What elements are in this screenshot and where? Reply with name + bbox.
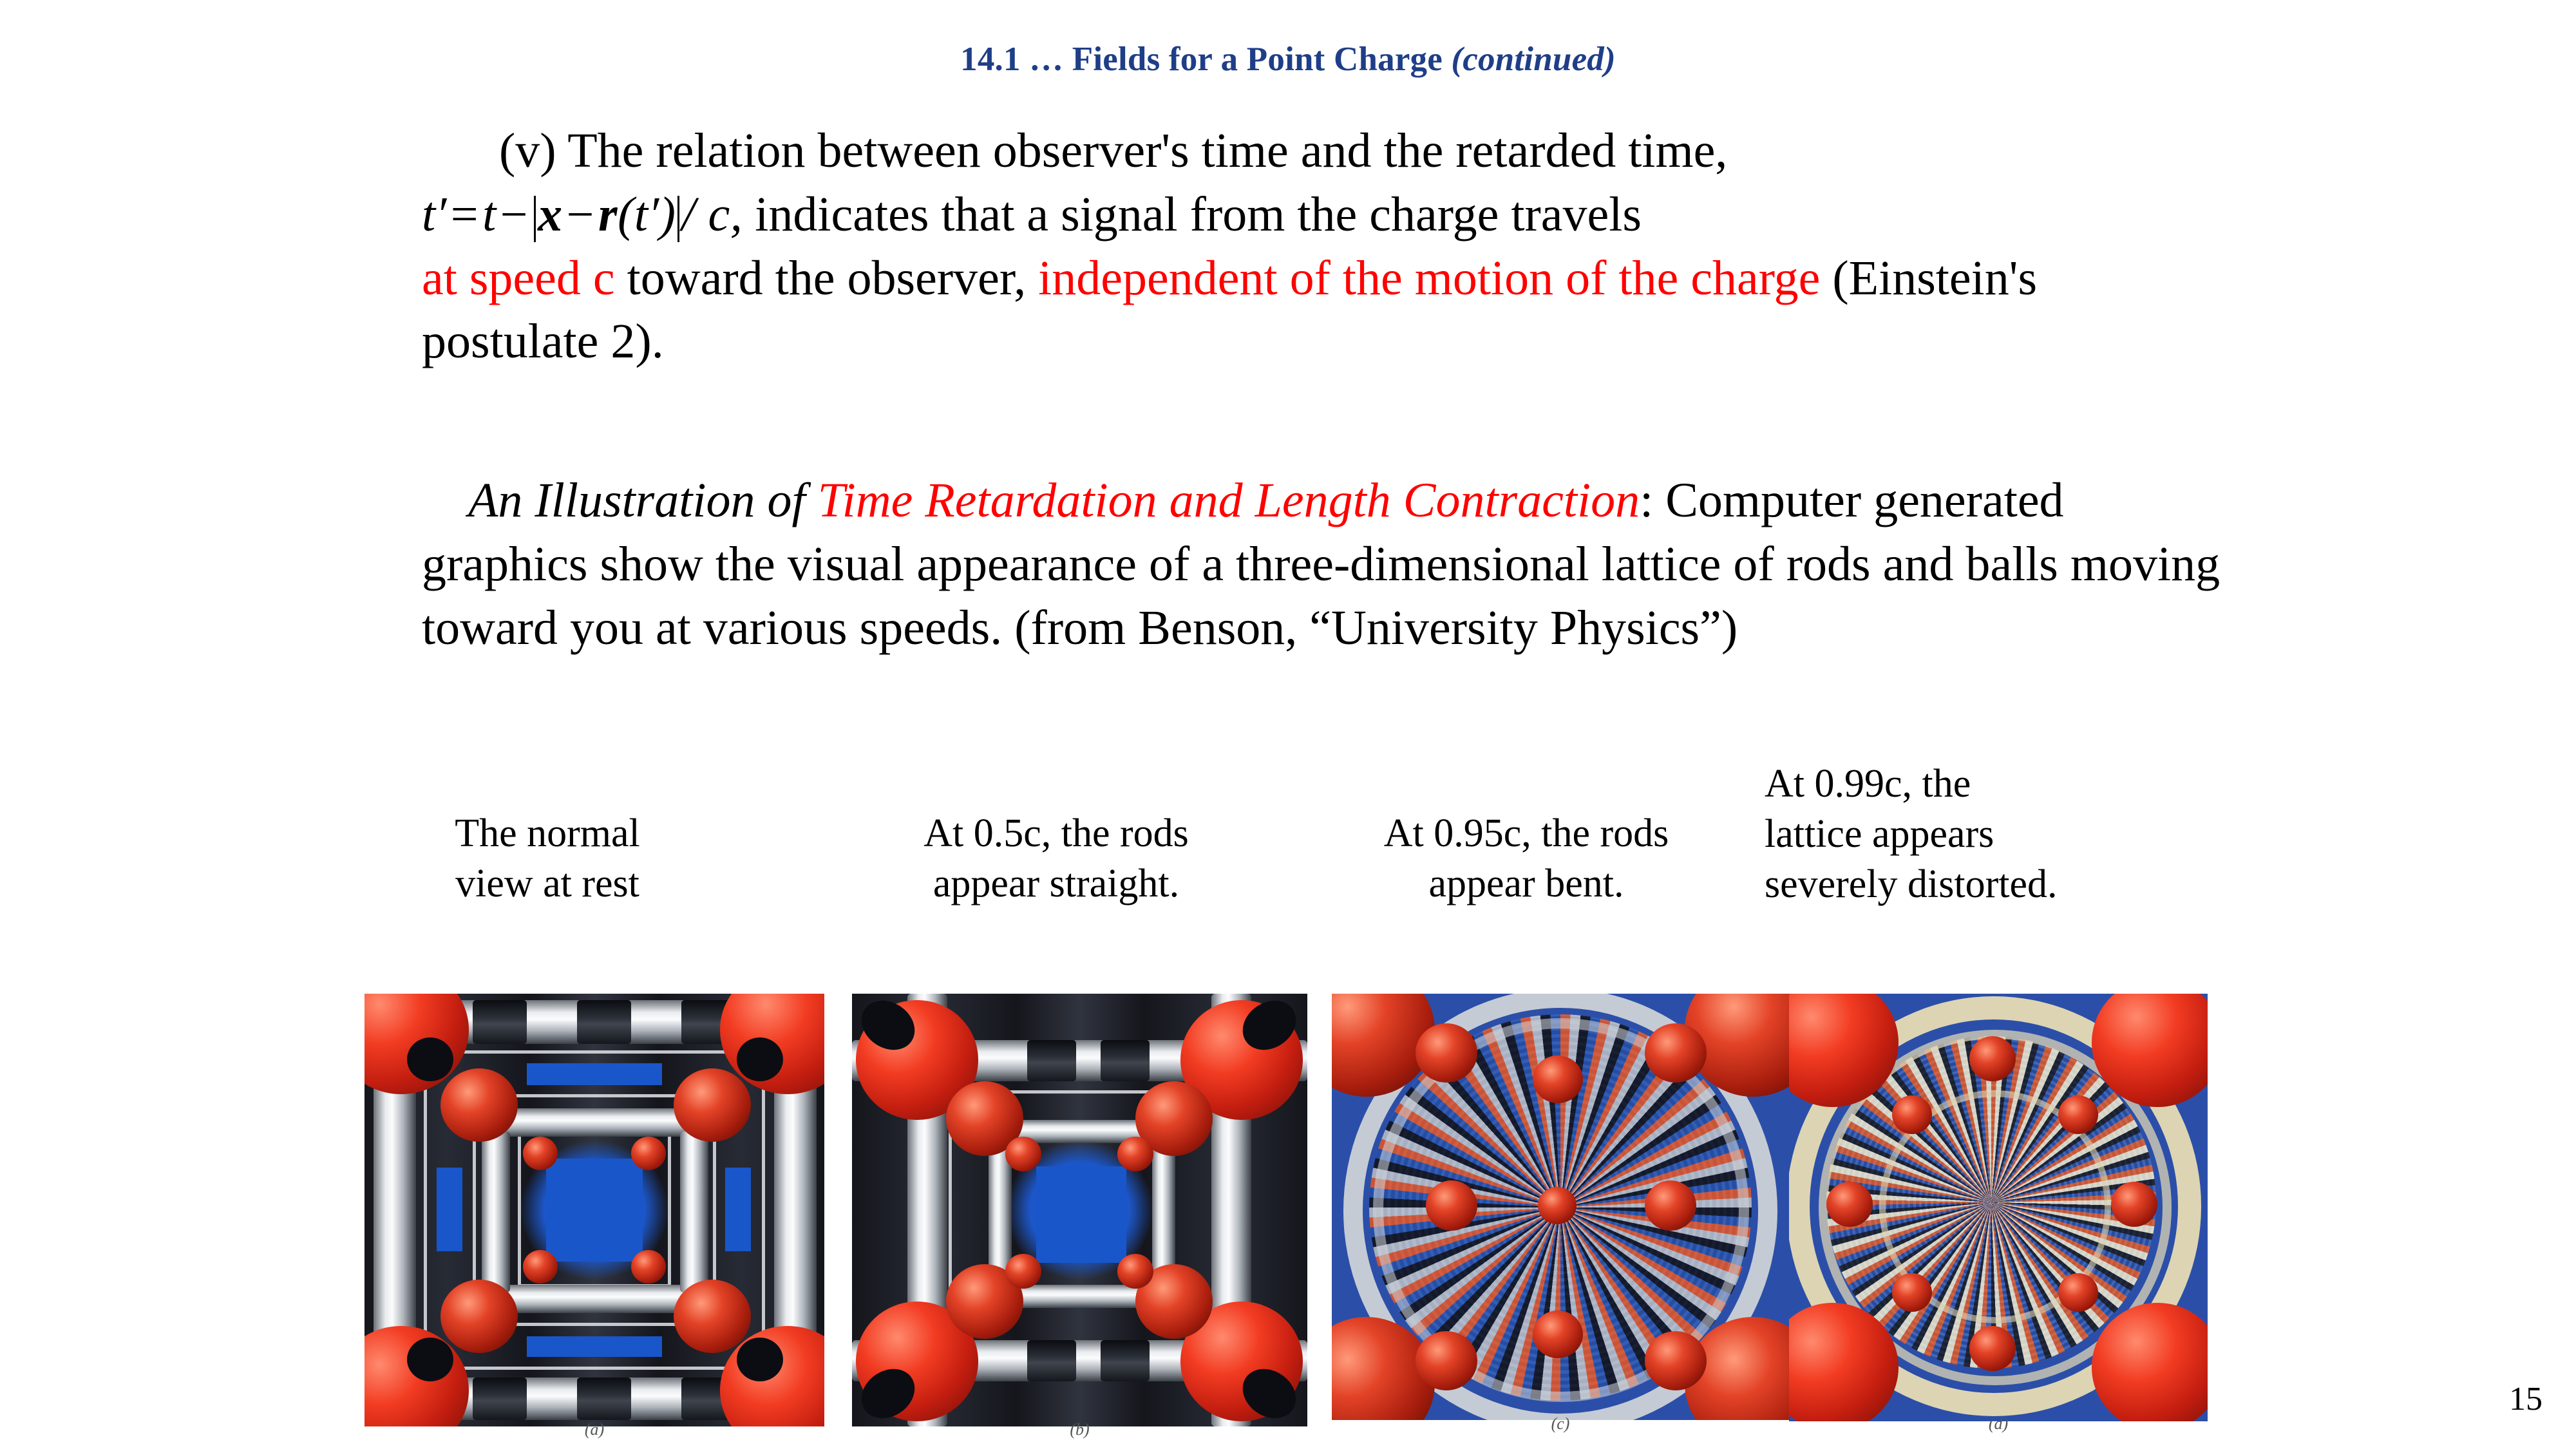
formula-minus-2: − (563, 187, 598, 241)
lattice-a-ball-3-tl (523, 1137, 558, 1170)
figure-caption-a: The normal view at rest (406, 808, 689, 909)
lattice-c-ball-mid-1 (1416, 1023, 1477, 1083)
paragraph-1-tail: at speed c toward the observer, independ… (422, 247, 2225, 374)
illustration-title-red: Time Retardation and Length Contraction (818, 473, 1640, 527)
lattice-d-ball-right (2111, 1182, 2157, 1227)
lattice-a-ball-2-br (674, 1280, 751, 1353)
lattice-d-ball-left (1826, 1182, 1873, 1227)
caption-c-line1: At 0.95c, the rods (1307, 808, 1745, 858)
figure-caption-c: At 0.95c, the rods appear bent. (1307, 808, 1745, 909)
lattice-a-band-4 (473, 1378, 527, 1420)
formula-abs-close (677, 196, 679, 242)
emphasis-at-speed-c: at speed c (422, 251, 615, 305)
lattice-a-band-1 (473, 1000, 527, 1044)
lattice-b-band-2 (1101, 1040, 1150, 1081)
lattice-a-band-2 (577, 1000, 631, 1044)
paragraph-1-mid: toward the observer, (615, 251, 1039, 305)
header-continued-label: (continued) (1451, 41, 1615, 78)
lattice-d-ball-diag-br (2058, 1273, 2098, 1312)
caption-c-line2: appear bent. (1307, 858, 1745, 909)
paragraph-1-after-formula: indicates that a signal from the charge … (755, 187, 1642, 241)
caption-d-line2: lattice appears (1765, 809, 2228, 859)
caption-d-line3: severely distorted. (1765, 859, 2228, 909)
lattice-a-bite-bl (407, 1338, 453, 1381)
lattice-d-ball-diag-bl (1892, 1273, 1932, 1312)
lattice-a-bite-br (737, 1338, 783, 1381)
figure-label-a: (a) (365, 1420, 824, 1439)
lattice-a-ball-3-tr (631, 1137, 666, 1170)
lattice-a-ball-2-bl (440, 1280, 518, 1353)
formula-equals: = (447, 187, 482, 241)
formula-minus: − (497, 187, 532, 241)
lattice-a-blue-top (527, 1063, 662, 1085)
formula-over-c: / c, (681, 187, 743, 241)
figure-label-b: (b) (852, 1420, 1307, 1439)
lattice-b-band-4 (1101, 1340, 1150, 1381)
lattice-c-ball-mid-2 (1645, 1023, 1707, 1083)
lattice-a-inner-rod-right (680, 1132, 708, 1293)
formula-abs-open (534, 196, 536, 242)
lattice-a-ball-3-bl (523, 1250, 558, 1283)
lattice-a-ball-2-tl (440, 1068, 518, 1142)
figure-caption-d: At 0.99c, the lattice appears severely d… (1765, 759, 2228, 909)
formula-t: t (482, 187, 497, 241)
header-section-title: 14.1 … Fields for a Point Charge (960, 41, 1443, 78)
paragraph-1-lead: (v) The relation between observer's time… (499, 124, 1727, 178)
lattice-a-inner-rod-left (482, 1132, 510, 1293)
lattice-c-ball-mid-4 (1645, 1331, 1707, 1390)
figure-lattice-half-c (852, 994, 1307, 1426)
formula-vector-r: r (598, 187, 618, 241)
lattice-d-ball-diag-tr (2058, 1095, 2098, 1134)
illustration-title-colon: : (1640, 473, 1653, 527)
lattice-art-b (852, 994, 1307, 1426)
lattice-a-inner-rod-bottom (493, 1285, 699, 1313)
formula-retarded-arg: (t′) (618, 187, 676, 241)
formula-lhs: t′ (422, 187, 447, 241)
lattice-d-ball-bottom (1969, 1326, 2016, 1371)
lattice-art-c (1332, 994, 1789, 1420)
retarded-time-formula: t′=t−x−r(t′)/ c, (422, 187, 743, 241)
lattice-a-rod-right (774, 1072, 817, 1349)
lattice-b-blue-core (1036, 1166, 1126, 1263)
lattice-c-ball-mid-6 (1533, 1311, 1583, 1358)
slide-header: 14.1 … Fields for a Point Charge (contin… (0, 40, 2576, 79)
formula-line: t′=t−x−r(t′)/ c, indicates that a signal… (422, 183, 2225, 247)
paragraph-line-group: (v) The relation between observer's time… (422, 119, 2225, 183)
lattice-b-band-1 (1027, 1040, 1076, 1081)
illustration-title-black: An Illustration of (468, 473, 818, 527)
lattice-art-a (365, 994, 824, 1426)
lattice-a-inner-rod-top (493, 1108, 699, 1137)
lattice-a-ball-3-br (631, 1250, 666, 1283)
formula-vector-x: x (538, 187, 563, 241)
figure-label-d: (d) (1789, 1414, 2208, 1434)
figure-lattice-099c (1789, 994, 2208, 1421)
lattice-d-ball-top (1969, 1036, 2016, 1081)
caption-b-line1: At 0.5c, the rods (831, 808, 1282, 858)
lattice-b-ball-3-br (1117, 1254, 1153, 1289)
lattice-a-band-5 (577, 1378, 631, 1420)
caption-a-line2: view at rest (406, 858, 689, 909)
lattice-c-ball-mid-7 (1426, 1180, 1477, 1231)
lattice-a-blue-left (437, 1168, 462, 1251)
lattice-c-ball-mid-3 (1416, 1331, 1477, 1390)
figure-lattice-at-rest (365, 994, 824, 1426)
lattice-c-ball-mid-8 (1645, 1180, 1696, 1231)
lattice-a-blue-bottom (527, 1336, 662, 1357)
lattice-a-bite-tl (407, 1037, 453, 1081)
lattice-a-ball-2-tr (674, 1068, 751, 1142)
lattice-c-ball-center (1538, 1187, 1577, 1224)
lattice-b-ball-3-tl (1005, 1137, 1041, 1171)
figure-caption-b: At 0.5c, the rods appear straight. (831, 808, 1282, 909)
figure-label-c: (c) (1332, 1414, 1789, 1434)
body-paragraph-2: An Illustration of Time Retardation and … (422, 469, 2238, 659)
body-paragraph-1: (v) The relation between observer's time… (422, 119, 2225, 374)
caption-a-line1: The normal (406, 808, 689, 858)
lattice-art-d (1789, 994, 2208, 1421)
lattice-a-bite-tr (737, 1037, 783, 1081)
caption-d-line1: At 0.99c, the (1765, 759, 2228, 809)
lattice-d-ball-diag-tl (1892, 1095, 1932, 1134)
lattice-a-rod-left (374, 1072, 416, 1349)
emphasis-independent-of-motion: independent of the motion of the charge (1038, 251, 1820, 305)
lattice-b-band-3 (1027, 1340, 1076, 1381)
lattice-b-ball-3-tr (1117, 1137, 1153, 1171)
lattice-a-blue-right (725, 1168, 751, 1251)
lattice-c-ball-mid-5 (1533, 1056, 1583, 1103)
lattice-b-ball-3-bl (1005, 1254, 1041, 1289)
page-number: 15 (2509, 1380, 2543, 1418)
lattice-a-blue-core (546, 1159, 643, 1262)
figure-lattice-095c (1332, 994, 1789, 1420)
caption-b-line2: appear straight. (831, 858, 1282, 909)
